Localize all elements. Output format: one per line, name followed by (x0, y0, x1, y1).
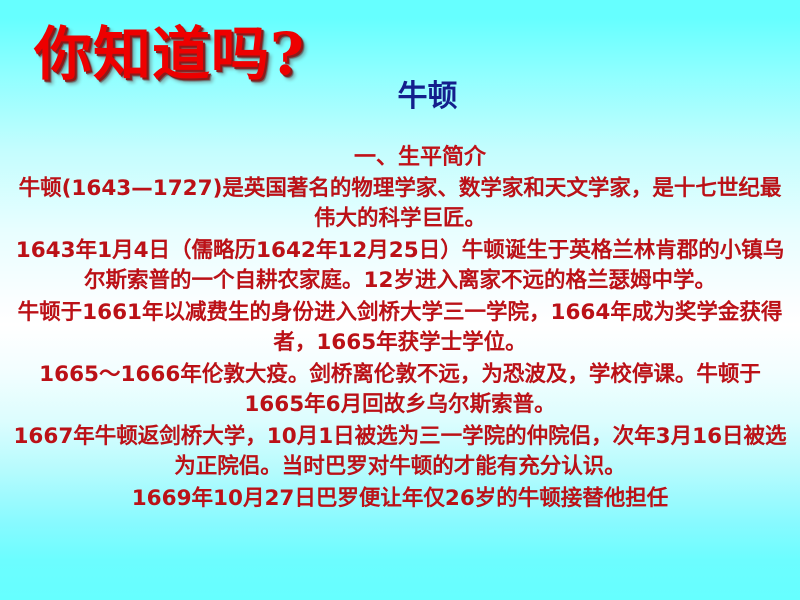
wordart-title: 你知道吗? (34, 22, 305, 86)
section-heading: 一、生平简介 (10, 142, 790, 174)
paragraph-london-plague: 1665～1666年伦敦大疫。剑桥离伦敦不远，为恐波及，学校停课。牛顿于1665… (10, 360, 790, 420)
paragraph-cambridge-entry: 牛顿于1661年以减费生的身份进入剑桥大学三一学院，1664年成为奖学金获得者，… (10, 298, 790, 358)
presentation-slide: 你知道吗? 牛顿 一、生平简介 牛顿(1643—1727)是英国著名的物理学家、… (0, 0, 800, 600)
paragraph-barrow-succession: 1669年10月27日巴罗便让年仅26岁的牛顿接替他担任 (10, 484, 790, 514)
body-text-block: 一、生平简介 牛顿(1643—1727)是英国著名的物理学家、数学家和天文学家，… (0, 142, 800, 514)
paragraph-birth: 1643年1月4日（儒略历1642年12月25日）牛顿诞生于英格兰林肯郡的小镇乌… (10, 236, 790, 296)
paragraph-fellowship: 1667年牛顿返剑桥大学，10月1日被选为三一学院的仲院侣，次年3月16日被选为… (10, 422, 790, 482)
subject-title: 牛顿 (0, 78, 800, 116)
paragraph-biography-intro: 牛顿(1643—1727)是英国著名的物理学家、数学家和天文学家，是十七世纪最伟… (10, 174, 790, 234)
